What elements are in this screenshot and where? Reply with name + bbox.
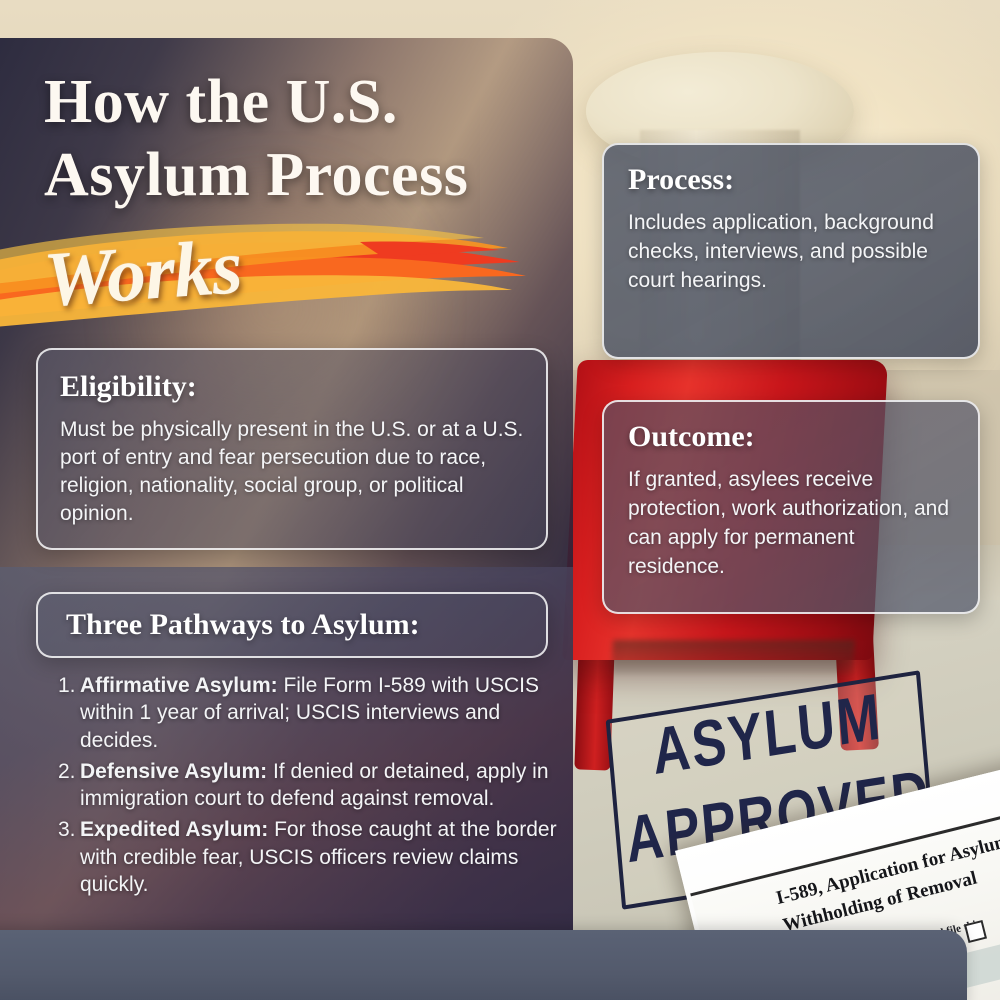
list-item: 1. Affirmative Asylum: File Form I-589 w… (58, 672, 558, 754)
process-heading: Process: (628, 163, 978, 197)
process-card: Process: Includes application, backgroun… (602, 143, 980, 359)
pathways-heading: Three Pathways to Asylum: (66, 608, 420, 642)
pathways-heading-pill: Three Pathways to Asylum: (36, 592, 548, 658)
process-body: Includes application, background checks,… (628, 209, 954, 296)
title-line-1: How the U.S. (44, 66, 564, 139)
outcome-heading: Outcome: (628, 420, 978, 454)
bottom-footer-bar (0, 930, 967, 1000)
outcome-card: Outcome: If granted, asylees receive pro… (602, 400, 980, 614)
list-item-text: Expedited Asylum: For those caught at th… (80, 816, 558, 898)
eligibility-body: Must be physically present in the U.S. o… (60, 416, 524, 528)
title-script-word: Works (41, 221, 244, 325)
list-item-number: 1. (58, 672, 80, 754)
list-item-text: Defensive Asylum: If denied or detained,… (80, 758, 558, 813)
outcome-body: If granted, asylees receive protection, … (628, 466, 954, 582)
pathways-list: 1. Affirmative Asylum: File Form I-589 w… (58, 672, 558, 902)
list-item-number: 3. (58, 816, 80, 898)
list-item-number: 2. (58, 758, 80, 813)
list-item-term: Defensive Asylum: (80, 760, 267, 783)
list-item: 2. Defensive Asylum: If denied or detain… (58, 758, 558, 813)
list-item-term: Expedited Asylum: (80, 818, 268, 841)
list-item-term: Affirmative Asylum: (80, 674, 278, 697)
list-item-text: Affirmative Asylum: File Form I-589 with… (80, 672, 558, 754)
eligibility-card: Eligibility: Must be physically present … (36, 348, 548, 550)
eligibility-heading: Eligibility: (60, 370, 546, 404)
stamp-under-shadow (611, 640, 855, 674)
list-item: 3. Expedited Asylum: For those caught at… (58, 816, 558, 898)
page-title: How the U.S. Asylum Process (44, 66, 564, 212)
title-line-2: Asylum Process (44, 139, 564, 212)
infographic-poster: ASYLUM APPROVED I-589, Application for A… (0, 0, 1000, 1000)
